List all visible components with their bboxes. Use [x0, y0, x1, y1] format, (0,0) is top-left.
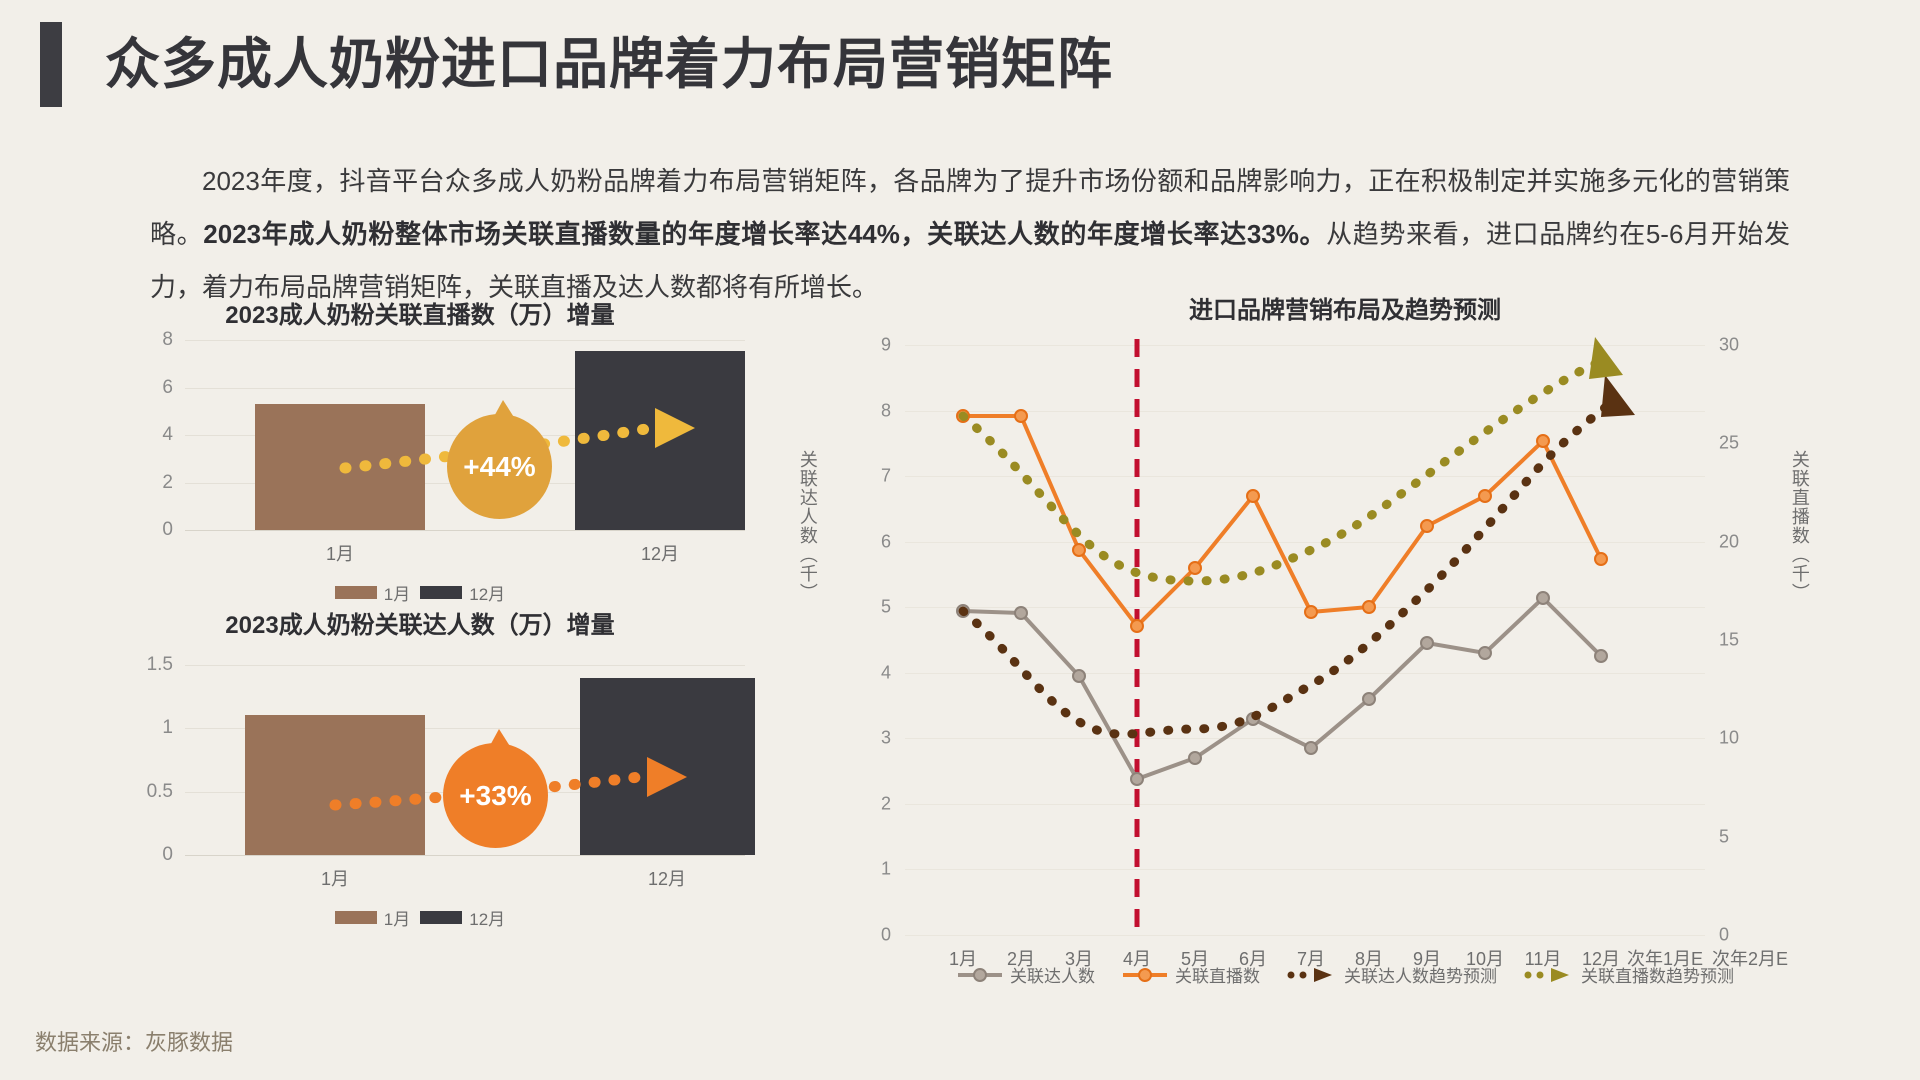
data-source-note: 数据来源：灰豚数据 — [35, 1025, 233, 1057]
chart2-growth-label: +33% — [459, 780, 531, 812]
chart1-growth-badge: +44% — [447, 414, 552, 519]
chart2-ytick: 0.5 — [147, 781, 173, 803]
chart2-legend-item-jan[interactable]: 1月 — [335, 905, 410, 930]
page-title: 众多成人奶粉进口品牌着力布局营销矩阵 — [105, 22, 1113, 107]
chart1-xlabel-dec: 12月 — [641, 540, 679, 566]
chart3-markers-live — [957, 410, 1607, 632]
chart2-legend-label-dec: 12月 — [469, 905, 505, 930]
chart3-title: 进口品牌营销布局及趋势预测 — [790, 290, 1900, 325]
chart3-legend-item-live-forecast[interactable]: 关联直播数趋势预测 — [1523, 962, 1734, 987]
legend-line-marker-icon — [956, 967, 1004, 983]
chart3-ytick-left: 5 — [881, 597, 891, 618]
chart3-legend-item-talent-forecast[interactable]: 关联达人数趋势预测 — [1286, 962, 1497, 987]
chart-talent-count-growth: 2023成人奶粉关联达人数（万）增量 1.5 1 0.5 0 +33% 1月 1… — [75, 605, 765, 985]
legend-swatch-icon — [420, 586, 462, 599]
chart3-line-talent — [963, 598, 1601, 779]
chart3-legend-item-live[interactable]: 关联直播数 — [1121, 962, 1260, 987]
chart2-legend: 1月 12月 — [75, 905, 765, 930]
legend-swatch-icon — [335, 586, 377, 599]
chart2-plot-area: 1.5 1 0.5 0 +33% 1月 12月 — [185, 665, 745, 855]
chart1-ytick: 0 — [162, 519, 173, 541]
chart3-ytick-left: 3 — [881, 728, 891, 749]
chart3-ytick-right: 30 — [1719, 335, 1739, 356]
chart3-ytick-left: 8 — [881, 400, 891, 421]
chart3-ytick-right: 0 — [1719, 925, 1729, 946]
chart3-trend-live — [963, 360, 1603, 581]
chart2-ytick: 1 — [162, 717, 173, 739]
chart-import-brand-forecast: 进口品牌营销布局及趋势预测 关联达人数（千） 关联直播数（千） 9 8 7 6 … — [790, 290, 1900, 1010]
chart2-growth-badge: +33% — [443, 743, 548, 848]
chart3-line-live — [963, 416, 1601, 626]
chart1-ytick: 2 — [162, 472, 173, 494]
chart1-legend-label-dec: 12月 — [469, 580, 505, 605]
chart3-legend-label-talent: 关联达人数 — [1010, 962, 1095, 987]
chart3-trend-talent-arrow-icon — [1601, 375, 1635, 417]
chart1-legend: 1月 12月 — [75, 580, 765, 605]
chart2-axis-line — [185, 855, 745, 856]
chart3-ytick-right: 5 — [1719, 826, 1729, 847]
chart3-ytick-right: 25 — [1719, 433, 1739, 454]
chart-live-count-growth: 2023成人奶粉关联直播数（万）增量 8 6 4 2 0 +44% 1月 12月 — [75, 295, 765, 655]
chart2-legend-item-dec[interactable]: 12月 — [420, 905, 505, 930]
chart1-ytick: 8 — [162, 329, 173, 351]
chart3-ytick-right: 10 — [1719, 728, 1739, 749]
chart3-legend-item-talent[interactable]: 关联达人数 — [956, 962, 1095, 987]
chart1-ytick: 4 — [162, 424, 173, 446]
chart1-legend-item-dec[interactable]: 12月 — [420, 580, 505, 605]
chart3-ytick-left: 2 — [881, 793, 891, 814]
chart3-ylabel-left: 关联达人数（千） — [798, 450, 817, 602]
legend-swatch-icon — [335, 911, 377, 924]
chart3-ylabel-right: 关联直播数（千） — [1790, 450, 1809, 602]
chart1-legend-label-jan: 1月 — [384, 580, 410, 605]
chart1-ytick: 6 — [162, 377, 173, 399]
chart3-ytick-left: 1 — [881, 859, 891, 880]
chart2-ytick: 1.5 — [147, 654, 173, 676]
chart3-ytick-left: 6 — [881, 531, 891, 552]
chart1-plot-area: 8 6 4 2 0 +44% 1月 12月 — [185, 340, 745, 530]
chart1-axis-line — [185, 530, 745, 531]
chart3-trend-live-arrow-icon — [1589, 337, 1623, 379]
chart2-title: 2023成人奶粉关联达人数（万）增量 — [75, 605, 765, 640]
title-accent-bar — [40, 22, 62, 107]
legend-swatch-icon — [420, 911, 462, 924]
chart3-ytick-left: 7 — [881, 466, 891, 487]
chart1-legend-item-jan[interactable]: 1月 — [335, 580, 410, 605]
legend-dotted-arrow-icon — [1286, 967, 1338, 983]
chart2-xlabel-jan: 1月 — [321, 865, 349, 891]
chart3-ytick-right: 15 — [1719, 630, 1739, 651]
chart1-growth-label: +44% — [463, 451, 535, 483]
legend-line-marker-icon — [1121, 967, 1169, 983]
chart3-ytick-right: 20 — [1719, 531, 1739, 552]
chart2-xlabel-dec: 12月 — [648, 865, 686, 891]
chart3-legend-label-live-forecast: 关联直播数趋势预测 — [1581, 962, 1734, 987]
chart3-ytick-left: 4 — [881, 662, 891, 683]
chart3-ytick-left: 9 — [881, 335, 891, 356]
chart3-legend: 关联达人数 关联直播数 关联达人数趋势预测 关联直播数趋势预测 — [790, 962, 1900, 987]
chart3-legend-label-live: 关联直播数 — [1175, 962, 1260, 987]
chart2-ytick: 0 — [162, 844, 173, 866]
chart2-legend-label-jan: 1月 — [384, 905, 410, 930]
chart1-title: 2023成人奶粉关联直播数（万）增量 — [75, 295, 765, 330]
chart3-legend-label-talent-forecast: 关联达人数趋势预测 — [1344, 962, 1497, 987]
legend-dotted-arrow-icon — [1523, 967, 1575, 983]
chart3-markers-talent — [957, 592, 1607, 785]
chart3-ytick-left: 0 — [881, 925, 891, 946]
chart3-series-canvas — [905, 345, 1705, 945]
intro-text-bold: 2023年成人奶粉整体市场关联直播数量的年度增长率达44%，关联达人数的年度增长… — [203, 219, 1326, 249]
chart3-plot-area: 9 8 7 6 5 4 3 2 1 0 30 25 20 15 10 5 0 — [905, 345, 1705, 935]
chart1-xlabel-jan: 1月 — [326, 540, 354, 566]
page-header: 众多成人奶粉进口品牌着力布局营销矩阵 — [0, 0, 1920, 130]
